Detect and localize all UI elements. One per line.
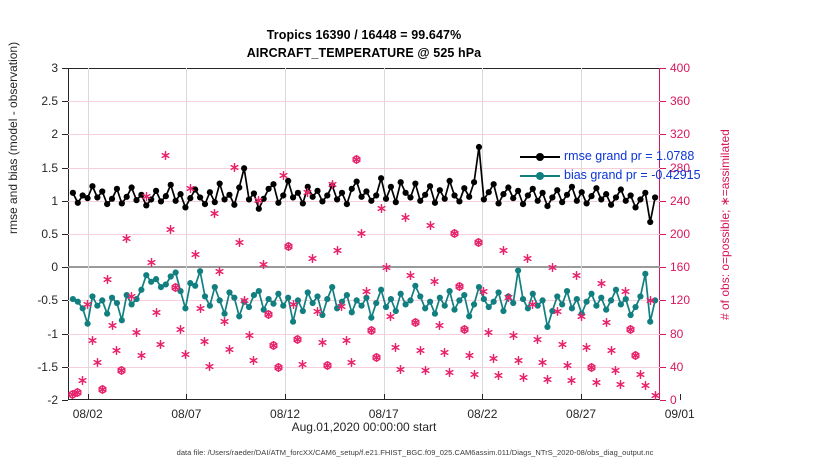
obs-assimilated-asterisk-icon xyxy=(220,313,229,322)
obs-assimilated-asterisk-icon xyxy=(621,283,630,292)
obs-possible-circle-icon xyxy=(264,306,273,315)
obs-assimilated-asterisk-icon xyxy=(445,364,454,373)
obs-assimilated-asterisk-icon xyxy=(333,242,342,251)
chart-title-block: Tropics 16390 / 16448 = 99.647% AIRCRAFT… xyxy=(0,26,728,62)
obs-assimilated-asterisk-icon xyxy=(577,308,586,317)
obs-assimilated-asterisk-icon xyxy=(519,369,528,378)
legend-item-rmse[interactable]: rmse grand pr = 1.0788 xyxy=(520,147,701,166)
obs-possible-circle-icon xyxy=(293,331,302,340)
y-axis-left-tick-label: 0.5 xyxy=(41,227,58,241)
y-axis-right-tick-label: 80 xyxy=(670,327,683,341)
y-axis-right-tick-label: 400 xyxy=(670,61,690,75)
x-axis-tick xyxy=(680,394,681,400)
obs-assimilated-asterisk-icon xyxy=(426,217,435,226)
y-axis-left-tick-label: 2.5 xyxy=(41,94,58,108)
obs-possible-circle-icon xyxy=(631,347,640,356)
x-axis-tick-label: 08/17 xyxy=(369,407,399,421)
obs-assimilated-asterisk-icon xyxy=(181,346,190,355)
obs-assimilated-asterisk-icon xyxy=(509,327,518,336)
chart-subtitle: AIRCRAFT_TEMPERATURE @ 525 hPa xyxy=(0,44,728,62)
obs-possible-circle-icon xyxy=(450,225,459,234)
obs-assimilated-asterisk-icon xyxy=(200,333,209,342)
y-axis-right-tick xyxy=(660,68,666,69)
obs-assimilated-asterisk-icon xyxy=(166,221,175,230)
obs-assimilated-asterisk-icon xyxy=(210,205,219,214)
obs-assimilated-asterisk-icon xyxy=(83,296,92,305)
obs-assimilated-asterisk-icon xyxy=(391,339,400,348)
x-axis-tick-label: 08/22 xyxy=(467,407,497,421)
obs-assimilated-asterisk-icon xyxy=(646,292,655,301)
obs-assimilated-asterisk-icon xyxy=(147,254,156,263)
obs-assimilated-asterisk-icon xyxy=(641,377,650,386)
obs-assimilated-asterisk-icon xyxy=(122,230,131,239)
legend-item-bias[interactable]: bias grand pr = -0.42915 xyxy=(520,166,701,185)
obs-assimilated-asterisk-icon xyxy=(396,361,405,370)
obs-assimilated-asterisk-icon xyxy=(563,357,572,366)
obs-assimilated-asterisk-icon xyxy=(543,371,552,380)
obs-assimilated-asterisk-icon xyxy=(137,347,146,356)
obs-assimilated-asterisk-icon xyxy=(597,275,606,284)
legend-swatch-bias xyxy=(520,170,560,182)
obs-assimilated-asterisk-icon xyxy=(156,336,165,345)
obs-possible-circle-icon xyxy=(460,321,469,330)
x-axis-tick-label: 08/02 xyxy=(73,407,103,421)
obs-assimilated-asterisk-icon xyxy=(205,358,214,367)
obs-assimilated-asterisk-icon xyxy=(607,342,616,351)
obs-assimilated-asterisk-icon xyxy=(108,317,117,326)
y-axis-left-tick-label: -1.5 xyxy=(37,360,58,374)
obs-assimilated-asterisk-icon xyxy=(88,332,97,341)
obs-assimilated-asterisk-icon xyxy=(406,267,415,276)
x-axis-tick-label: 08/07 xyxy=(171,407,201,421)
obs-assimilated-asterisk-icon xyxy=(249,352,258,361)
obs-assimilated-asterisk-icon xyxy=(313,303,322,312)
data-file-footer: data file: /Users/raeder/DAI/ATM_forcXX/… xyxy=(0,448,830,457)
obs-assimilated-asterisk-icon xyxy=(191,246,200,255)
y-axis-right-tick xyxy=(660,367,666,368)
x-axis-tick-label: 08/27 xyxy=(566,407,596,421)
obs-assimilated-asterisk-icon xyxy=(142,188,151,197)
obs-possible-circle-icon xyxy=(352,151,361,160)
obs-assimilated-asterisk-icon xyxy=(592,374,601,383)
obs-assimilated-asterisk-icon xyxy=(240,292,249,301)
y-axis-right-tick xyxy=(660,267,666,268)
obs-assimilated-asterisk-icon xyxy=(514,352,523,361)
obs-assimilated-asterisk-icon xyxy=(401,209,410,218)
obs-assimilated-asterisk-icon xyxy=(386,308,395,317)
obs-assimilated-asterisk-icon xyxy=(254,192,263,201)
obs-assimilated-asterisk-icon xyxy=(582,339,591,348)
obs-assimilated-asterisk-icon xyxy=(553,303,562,312)
obs-assimilated-asterisk-icon xyxy=(196,300,205,309)
obs-assimilated-asterisk-icon xyxy=(186,180,195,189)
obs-assimilated-asterisk-icon xyxy=(440,344,449,353)
y-axis-left-tick-label: 0 xyxy=(51,260,58,274)
obs-assimilated-asterisk-icon xyxy=(259,256,268,265)
y-axis-left-tick-label: -2 xyxy=(47,393,58,407)
obs-possible-circle-icon xyxy=(455,278,464,287)
obs-assimilated-asterisk-icon xyxy=(328,176,337,185)
obs-assimilated-asterisk-icon xyxy=(362,283,371,292)
obs-assimilated-asterisk-icon xyxy=(347,354,356,363)
obs-assimilated-asterisk-icon xyxy=(245,327,254,336)
obs-assimilated-asterisk-icon xyxy=(602,314,611,323)
obs-assimilated-asterisk-icon xyxy=(225,341,234,350)
obs-assimilated-asterisk-icon xyxy=(528,296,537,305)
obs-assimilated-asterisk-icon xyxy=(132,324,141,333)
obs-assimilated-asterisk-icon xyxy=(484,324,493,333)
legend-label-bias: bias grand pr = -0.42915 xyxy=(564,166,701,185)
obs-possible-circle-icon xyxy=(274,359,283,368)
obs-assimilated-asterisk-icon xyxy=(298,356,307,365)
y-axis-left-tick-label: 1.5 xyxy=(41,161,58,175)
obs-assimilated-asterisk-icon xyxy=(318,334,327,343)
obs-assimilated-asterisk-icon xyxy=(636,366,645,375)
obs-assimilated-asterisk-icon xyxy=(127,288,136,297)
obs-assimilated-asterisk-icon xyxy=(377,200,386,209)
obs-assimilated-asterisk-icon xyxy=(533,331,542,340)
obs-assimilated-asterisk-icon xyxy=(308,250,317,259)
x-axis-label: Aug.01,2020 00:00:00 start xyxy=(68,420,660,434)
plot-area[interactable]: 32.521.510.50-0.5-1-1.5-2400360320280240… xyxy=(68,68,660,400)
obs-assimilated-asterisk-icon xyxy=(215,263,224,272)
obs-possible-circle-icon xyxy=(474,234,483,243)
obs-possible-circle-icon xyxy=(98,381,107,390)
obs-possible-circle-icon xyxy=(626,321,635,330)
obs-assimilated-asterisk-icon xyxy=(504,289,513,298)
obs-assimilated-asterisk-icon xyxy=(93,354,102,363)
obs-assimilated-asterisk-icon xyxy=(499,242,508,251)
obs-assimilated-asterisk-icon xyxy=(303,184,312,193)
obs-assimilated-asterisk-icon xyxy=(289,296,298,305)
obs-assimilated-asterisk-icon xyxy=(337,298,346,307)
y-axis-right-tick-label: 320 xyxy=(670,127,690,141)
obs-assimilated-asterisk-icon xyxy=(465,347,474,356)
obs-possible-circle-icon xyxy=(587,359,596,368)
y-axis-right-label: # of obs: o=possible; ∗=assimilated xyxy=(718,129,732,320)
series-layer xyxy=(68,68,660,400)
obs-possible-circle-icon xyxy=(269,337,278,346)
obs-assimilated-asterisk-icon xyxy=(572,267,581,276)
y-axis-right-tick xyxy=(660,400,666,401)
obs-possible-circle-icon xyxy=(284,238,293,247)
y-axis-right-tick xyxy=(660,300,666,301)
obs-possible-circle-icon xyxy=(372,349,381,358)
y-axis-right-tick-label: 160 xyxy=(670,260,690,274)
obs-assimilated-asterisk-icon xyxy=(489,350,498,359)
obs-assimilated-asterisk-icon xyxy=(470,366,479,375)
obs-assimilated-asterisk-icon xyxy=(616,376,625,385)
obs-assimilated-asterisk-icon xyxy=(235,234,244,243)
obs-assimilated-asterisk-icon xyxy=(430,273,439,282)
obs-assimilated-asterisk-icon xyxy=(357,225,366,234)
y-axis-right-tick-label: 40 xyxy=(670,360,683,374)
obs-assimilated-asterisk-icon xyxy=(78,372,87,381)
y-axis-right-tick-label: 200 xyxy=(670,227,690,241)
obs-assimilated-asterisk-icon xyxy=(558,336,567,345)
obs-assimilated-asterisk-icon xyxy=(152,304,161,313)
obs-possible-circle-icon xyxy=(323,357,332,366)
obs-assimilated-asterisk-icon xyxy=(567,372,576,381)
y-axis-right-tick xyxy=(660,134,666,135)
obs-assimilated-asterisk-icon xyxy=(176,321,185,330)
x-axis-tick-label: 08/12 xyxy=(270,407,300,421)
obs-assimilated-asterisk-icon xyxy=(538,354,547,363)
obs-assimilated-asterisk-icon xyxy=(523,250,532,259)
y-axis-left-tick-label: -1 xyxy=(47,327,58,341)
obs-assimilated-asterisk-icon xyxy=(548,259,557,268)
obs-possible-circle-icon xyxy=(411,314,420,323)
y-axis-right-tick-label: 360 xyxy=(670,94,690,108)
obs-assimilated-asterisk-icon xyxy=(479,283,488,292)
chart-legend: rmse grand pr = 1.0788 bias grand pr = -… xyxy=(520,147,701,185)
y-axis-left-label: rmse and bias (model - observation) xyxy=(6,42,20,234)
y-axis-right-tick xyxy=(660,234,666,235)
y-axis-left-tick-label: 3 xyxy=(51,61,58,75)
obs-assimilated-asterisk-icon xyxy=(421,362,430,371)
obs-assimilated-asterisk-icon xyxy=(112,342,121,351)
y-axis-right-tick xyxy=(660,334,666,335)
y-axis-left-tick-label: 1 xyxy=(51,194,58,208)
obs-possible-circle-icon xyxy=(117,362,126,371)
y-axis-right-tick xyxy=(660,101,666,102)
legend-label-rmse: rmse grand pr = 1.0788 xyxy=(564,147,694,166)
y-axis-right-tick-label: 120 xyxy=(670,293,690,307)
y-axis-left-tick-label: -0.5 xyxy=(37,293,58,307)
y-axis-right-tick xyxy=(660,201,666,202)
obs-assimilated-asterisk-icon xyxy=(651,387,660,396)
page-title: Tropics 16390 / 16448 = 99.647% xyxy=(0,26,728,44)
obs-possible-circle-icon xyxy=(171,279,180,288)
obs-assimilated-asterisk-icon xyxy=(161,147,170,156)
y-axis-left-tick xyxy=(62,400,68,401)
obs-assimilated-asterisk-icon xyxy=(494,367,503,376)
obs-assimilated-asterisk-icon xyxy=(435,317,444,326)
y-axis-right-tick-label: 240 xyxy=(670,194,690,208)
obs-possible-circle-icon xyxy=(367,322,376,331)
obs-assimilated-asterisk-icon xyxy=(230,159,239,168)
obs-assimilated-asterisk-icon xyxy=(279,167,288,176)
y-axis-left-tick-label: 2 xyxy=(51,127,58,141)
y-axis-right-tick-label: 0 xyxy=(670,393,677,407)
obs-assimilated-asterisk-icon xyxy=(342,332,351,341)
obs-assimilated-asterisk-icon xyxy=(382,259,391,268)
x-axis-tick-label: 09/01 xyxy=(665,407,695,421)
obs-marker-layer xyxy=(68,68,660,400)
obs-assimilated-asterisk-icon xyxy=(611,362,620,371)
obs-assimilated-asterisk-icon xyxy=(416,342,425,351)
legend-swatch-rmse xyxy=(520,151,560,163)
obs-assimilated-asterisk-icon xyxy=(103,271,112,280)
